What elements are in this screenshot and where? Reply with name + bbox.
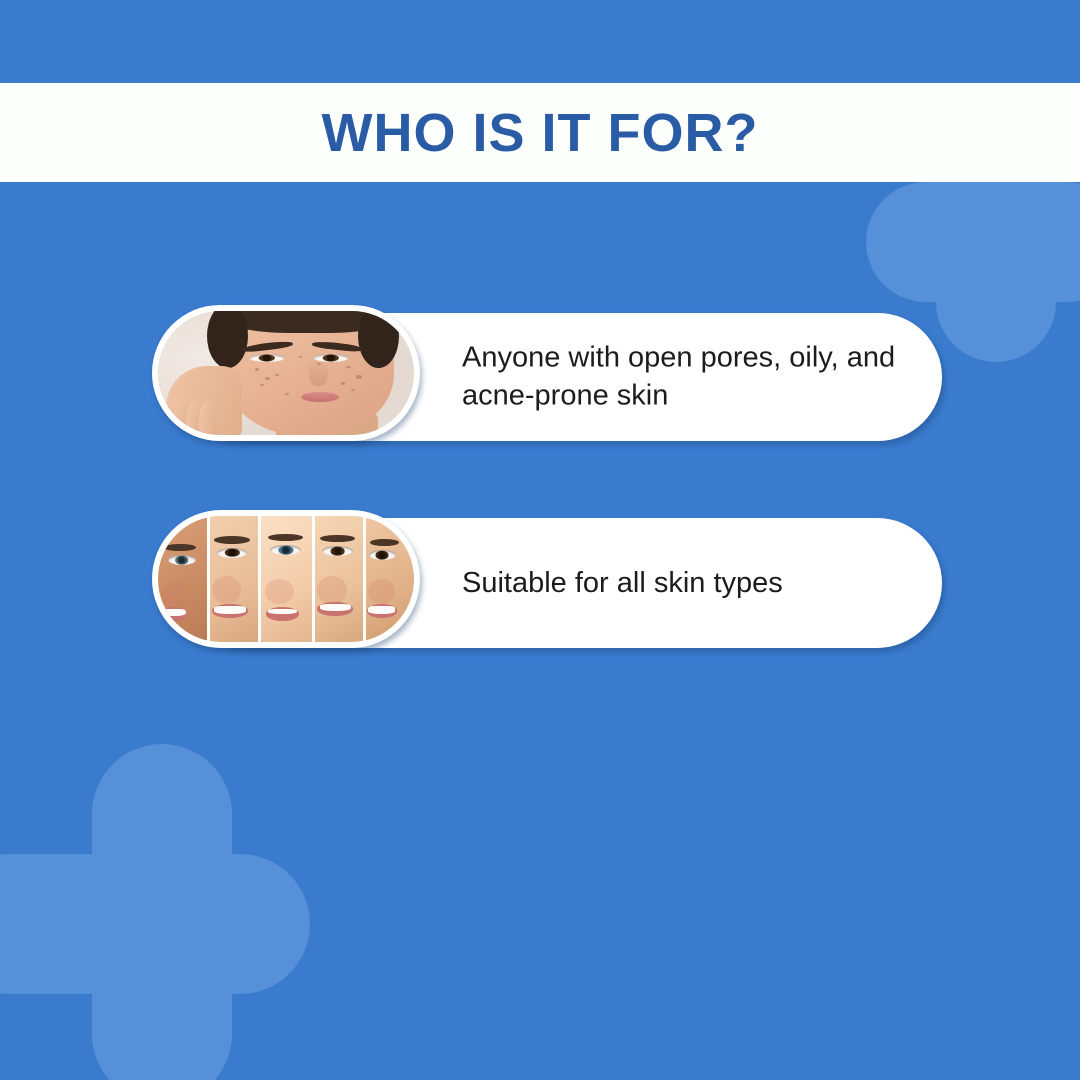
collage-strip	[363, 516, 414, 642]
feature-row: Anyone with open pores, oily, and acne-p…	[152, 305, 942, 441]
iris-left	[259, 354, 275, 361]
acne-spot	[255, 368, 259, 371]
teeth	[214, 606, 246, 613]
acne-spot	[356, 375, 361, 378]
feature-text: Anyone with open pores, oily, and acne-p…	[462, 339, 932, 416]
skin-tone-layer	[366, 516, 414, 642]
eye-left	[249, 354, 285, 362]
collage-strip	[207, 516, 258, 642]
mouth	[317, 602, 353, 616]
mouth	[212, 604, 249, 618]
header-band: WHO IS IT FOR?	[0, 83, 1080, 182]
acne-spot	[317, 363, 320, 365]
plus-shape-horizontal-bar	[866, 182, 1080, 302]
iris-right	[323, 354, 339, 361]
collage-strip	[258, 516, 312, 642]
teeth	[320, 604, 351, 611]
cheek-highlight	[161, 582, 188, 610]
woman-with-acne-prone-skin-photo	[158, 311, 414, 435]
feature-thumbnail	[152, 305, 420, 441]
eyebrow	[214, 536, 250, 544]
acne-spot	[299, 356, 302, 358]
iris	[330, 547, 345, 556]
feature-thumbnail	[152, 510, 420, 648]
plus-shape-horizontal-bar	[0, 854, 310, 994]
poster-canvas: WHO IS IT FOR? Anyone with open pores, o…	[0, 0, 1080, 1080]
iris	[175, 556, 189, 565]
skin-types-collage-illustration	[158, 516, 414, 642]
teeth	[268, 609, 297, 614]
feature-row: Suitable for all skin types	[152, 510, 942, 648]
mouth	[367, 604, 397, 618]
hair-side-left	[207, 311, 248, 368]
collage-strip	[158, 516, 207, 642]
acne-spot	[351, 389, 354, 391]
feature-text: Suitable for all skin types	[462, 564, 932, 602]
iris	[278, 546, 293, 555]
mouth	[161, 607, 187, 621]
eye-right	[313, 354, 349, 362]
eyebrow	[370, 539, 399, 547]
iris	[376, 551, 389, 560]
collage-strip	[312, 516, 363, 642]
hair-side-right	[358, 311, 399, 368]
teeth	[162, 609, 185, 616]
acne-spot	[285, 393, 288, 395]
acne-face-illustration	[158, 311, 414, 435]
eye	[217, 548, 247, 558]
acne-spot	[329, 395, 333, 397]
plus-shape-vertical-bar	[92, 744, 232, 1080]
acne-spot	[265, 377, 270, 380]
acne-spot	[341, 382, 345, 384]
page-title: WHO IS IT FOR?	[322, 102, 759, 164]
teeth	[368, 606, 394, 613]
plus-shape-bottom-left-icon	[0, 744, 310, 1080]
cheek-highlight	[368, 579, 395, 604]
acne-spot	[275, 374, 278, 376]
collage-strips	[158, 516, 414, 642]
finger	[199, 401, 216, 435]
iris	[225, 548, 239, 557]
acne-spot	[346, 366, 351, 369]
eye	[168, 555, 196, 565]
mouth	[266, 607, 299, 621]
eye	[369, 550, 396, 560]
collage-of-diverse-skin-types-photo	[158, 516, 414, 642]
lips-shape	[301, 392, 340, 402]
skin-tone-layer	[158, 516, 207, 642]
acne-spot	[260, 384, 264, 386]
